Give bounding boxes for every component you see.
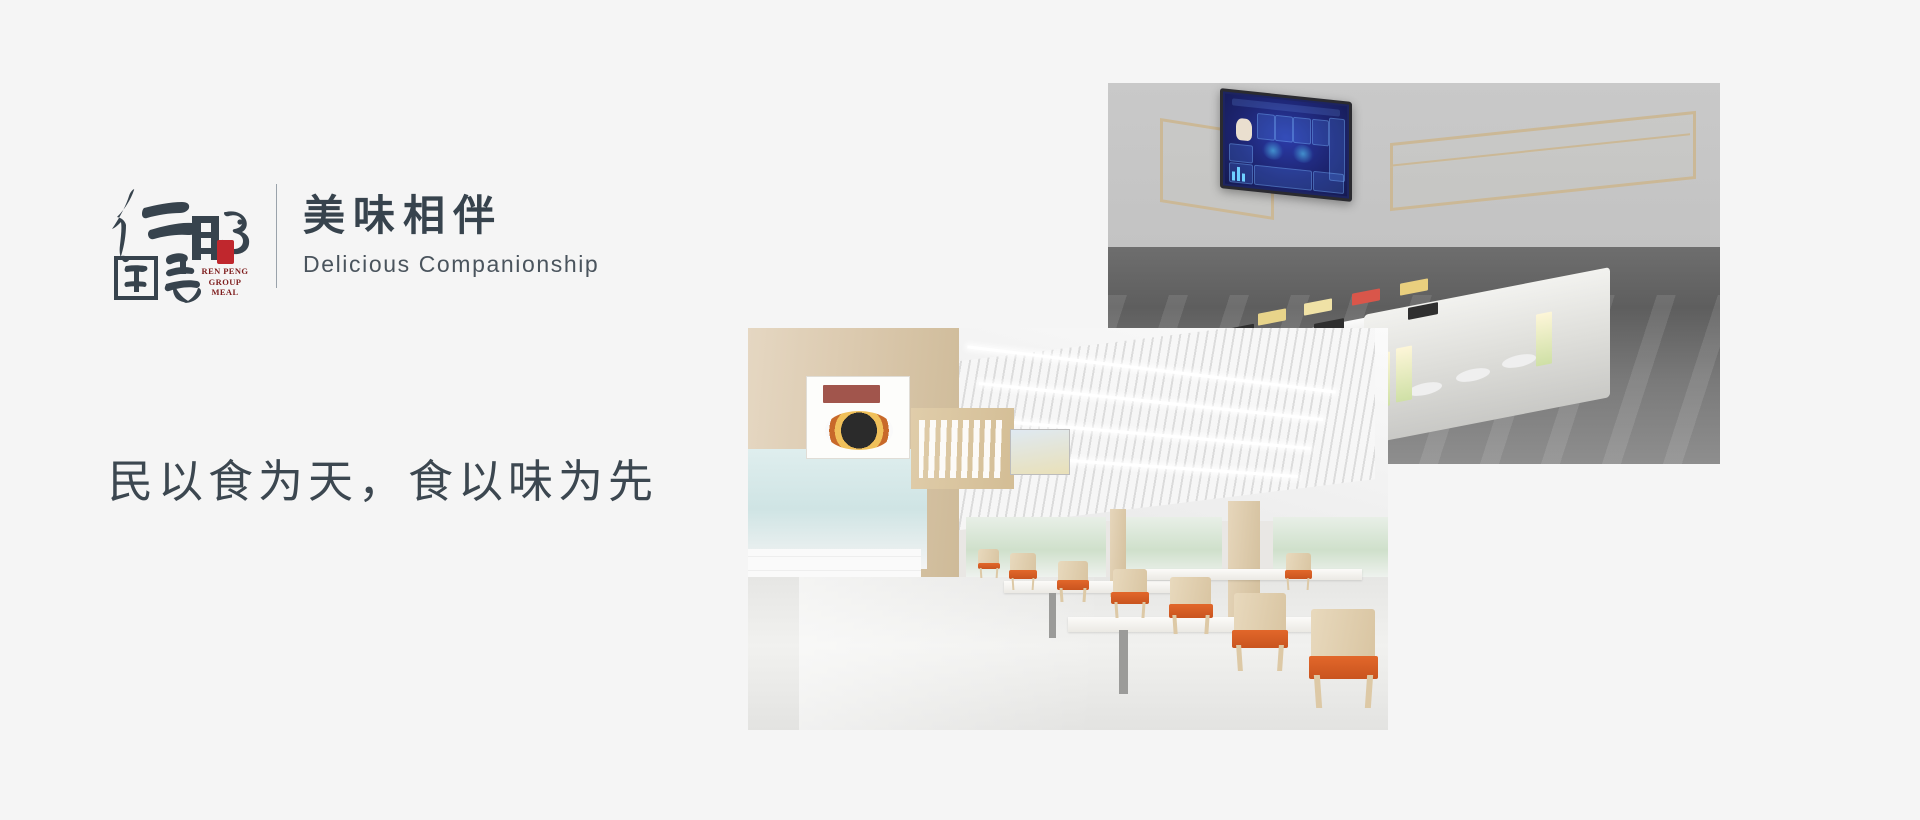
- chair-leg: [1287, 578, 1290, 590]
- chair-leg: [1032, 578, 1035, 590]
- stall-brand-logo-icon: [823, 385, 880, 403]
- dashboard-chef-avatar-icon: [1236, 118, 1252, 141]
- dashboard-gauge-icon: [1262, 141, 1284, 161]
- headline-cn: 民以食为天，食以味为先: [108, 455, 658, 509]
- chair-backrest: [1286, 553, 1312, 572]
- brand-logo: REN PENG GROUP MEAL: [106, 178, 256, 308]
- slogan-cn: 美味相伴: [303, 192, 599, 240]
- dashboard-radar-card: [1229, 143, 1253, 164]
- chair-leg: [979, 568, 981, 578]
- chair-leg: [1114, 602, 1118, 618]
- chair-backrest: [1010, 553, 1036, 572]
- brand-lockup: REN PENG GROUP MEAL 美味相伴 Delicious Compa…: [106, 178, 599, 308]
- hero-banner: REN PENG GROUP MEAL 美味相伴 Delicious Compa…: [0, 0, 1920, 820]
- dashboard-bar: [1237, 167, 1240, 181]
- title-group: 美味相伴 Delicious Companionship: [303, 178, 599, 278]
- dashboard-gauge-icon: [1292, 144, 1314, 164]
- cafeteria-table-leg: [1049, 593, 1056, 637]
- chair-leg: [995, 568, 997, 578]
- chair-leg: [1142, 602, 1146, 618]
- chair-leg: [1011, 578, 1014, 590]
- smart-canteen-dashboard-screen: [1220, 88, 1352, 202]
- dashboard-title-bar: [1232, 98, 1339, 116]
- cafeteria-chair: [1058, 561, 1087, 601]
- chair-leg: [1237, 645, 1243, 671]
- chair-leg: [1060, 588, 1064, 602]
- brand-romanized-line-2: GROUP: [194, 277, 256, 288]
- self-service-sign-text: [919, 420, 1005, 478]
- brand-romanized-line-1: REN PENG: [194, 266, 256, 277]
- dashboard-bar: [1232, 171, 1235, 180]
- chair-leg: [1277, 645, 1283, 671]
- chair-leg: [1314, 675, 1322, 708]
- chair-leg: [1205, 615, 1210, 634]
- dashboard-kpi-card: [1293, 117, 1311, 144]
- dashboard-kpi-card: [1257, 113, 1275, 140]
- dashboard-kpi-card: [1312, 119, 1330, 146]
- chair-backrest: [1170, 577, 1211, 606]
- cafeteria-window: [1119, 517, 1221, 577]
- chair-backrest: [1058, 561, 1087, 582]
- chair-backrest: [1234, 593, 1285, 633]
- dashboard-canvas: [1225, 94, 1347, 197]
- cafeteria-chair: [1170, 577, 1211, 633]
- cafeteria-chair: [1010, 553, 1036, 589]
- dashboard-kpi-card: [1275, 115, 1293, 142]
- brand-divider: [276, 184, 277, 288]
- dashboard-chart-card: [1313, 171, 1344, 194]
- dashboard-bar: [1242, 174, 1245, 182]
- cafeteria-interior-image: [748, 328, 1388, 730]
- render-menu-poster: [1536, 311, 1552, 366]
- stall-food-photo: [825, 411, 893, 450]
- chair-leg: [1172, 615, 1177, 634]
- cafeteria-table-leg: [1119, 630, 1128, 694]
- chair-backrest: [978, 549, 998, 564]
- cafeteria-chair: [978, 549, 998, 577]
- brand-seal-icon: [217, 240, 234, 264]
- cafeteria-chair: [1311, 609, 1375, 705]
- cafeteria-chair: [1286, 553, 1312, 589]
- chair-leg: [1307, 578, 1310, 590]
- render-menu-poster: [1396, 345, 1412, 402]
- cafeteria-chair: [1113, 569, 1148, 617]
- chair-leg: [1364, 675, 1372, 708]
- chair-leg: [1083, 588, 1087, 602]
- chair-backrest: [1113, 569, 1148, 594]
- dashboard-list-card: [1254, 165, 1312, 191]
- cafeteria-stall-lightbox-sign: [806, 376, 910, 458]
- brand-seal-block: REN PENG GROUP MEAL: [194, 240, 256, 298]
- slogan-en: Delicious Companionship: [303, 252, 599, 277]
- cafeteria-self-service-sign: [911, 408, 1013, 488]
- cafeteria-chair: [1234, 593, 1285, 669]
- brand-romanized-line-3: MEAL: [194, 287, 256, 298]
- chair-backrest: [1311, 609, 1375, 659]
- cafeteria-menu-display-screen: [1010, 429, 1070, 475]
